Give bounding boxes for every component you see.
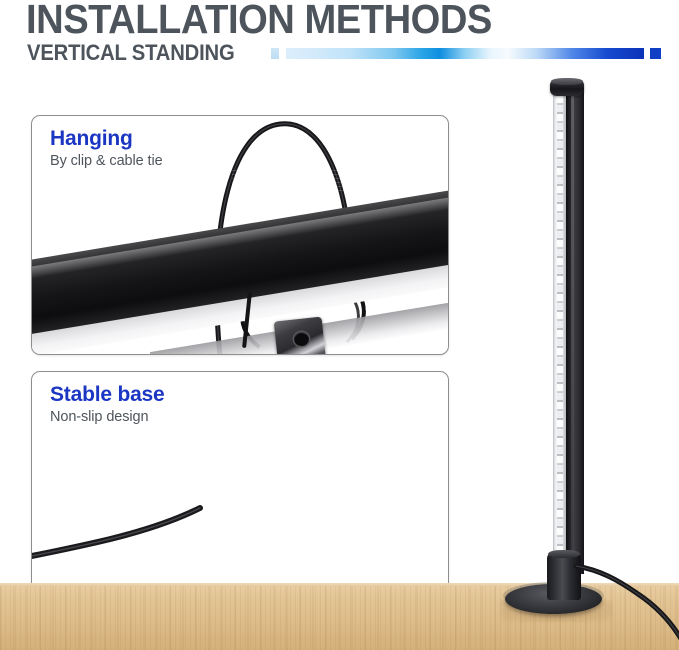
stable-base-title: Stable base xyxy=(50,382,165,407)
lamp-top-cap-surface xyxy=(551,78,583,85)
hanging-subtitle: By clip & cable tie xyxy=(50,152,163,171)
hanging-title: Hanging xyxy=(50,126,163,151)
accent-rule-dot xyxy=(271,48,279,59)
hanging-label-group: Hanging By clip & cable tie xyxy=(50,126,163,171)
card-stable-base: Stable base Non-slip design xyxy=(31,371,449,604)
page-subtitle: VERTICAL STANDING xyxy=(27,40,235,66)
lamp-pole-body xyxy=(566,90,584,574)
card-hanging: Hanging By clip & cable tie xyxy=(31,115,449,355)
lamp-power-cable-icon xyxy=(560,540,679,650)
stable-base-label-group: Stable base Non-slip design xyxy=(50,382,165,427)
accent-rule-bar xyxy=(286,48,644,59)
bar-lamp-ridges xyxy=(232,170,448,192)
page-title: INSTALLATION METHODS xyxy=(26,0,492,43)
infographic-canvas: INSTALLATION METHODS VERTICAL STANDING xyxy=(0,0,679,650)
accent-rule-tip xyxy=(650,48,661,59)
lamp-pole-highlight xyxy=(571,92,574,570)
lamp-led-strip xyxy=(557,96,563,564)
stable-base-subtitle: Non-slip design xyxy=(50,408,165,427)
